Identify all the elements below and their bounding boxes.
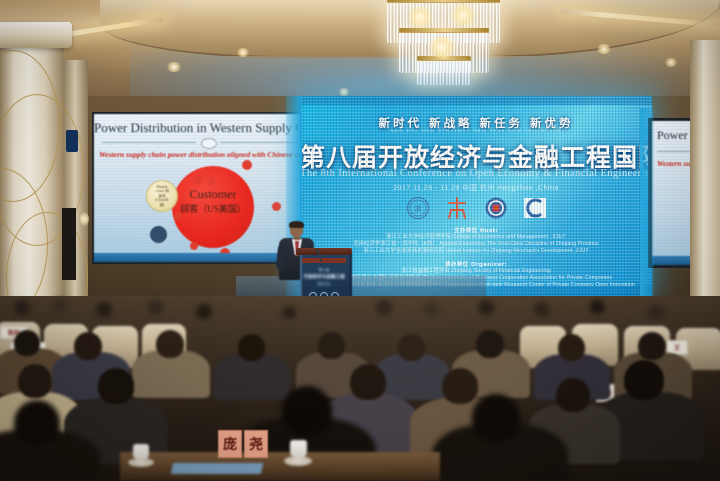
audience-head (424, 302, 439, 316)
audience-head (648, 304, 664, 319)
lectern-text-line-2: 开放经济与金融工程 (300, 274, 348, 280)
node-dot-red-4 (272, 202, 281, 211)
lectern-accent-band (302, 258, 346, 263)
ceiling-spot-4 (664, 58, 678, 67)
left-slide-rule-knot (201, 138, 217, 149)
customer-label: Customer (172, 187, 254, 202)
led-top-band (300, 96, 652, 105)
audience-head (74, 332, 102, 360)
conference-title-en: The 8th International Conference on Open… (300, 168, 652, 179)
node-dot-red-3 (208, 178, 215, 185)
spiral-institute-logo (484, 196, 508, 220)
organizer-heading: 承办单位 Organizer: (300, 260, 652, 268)
audience-head (96, 302, 112, 317)
wall-speaker-stack (62, 208, 76, 280)
audience-head (638, 332, 666, 360)
audience-head (14, 330, 40, 356)
audience-head (98, 368, 134, 404)
speaker-hair (289, 221, 304, 228)
society-logo (445, 196, 469, 220)
audience-head (558, 334, 585, 361)
chandelier-tier-bottom (417, 58, 471, 85)
host-line-3: 浙江工业大学全球浙商发展研究院 Global Institute for Zhe… (300, 248, 652, 255)
node-dot-navy (150, 226, 167, 243)
foreground-head (472, 394, 520, 442)
teacup (133, 444, 149, 461)
audience-head (478, 300, 494, 315)
main-led-backdrop: 新时代 新战略 新任务 新优势 NEW ERA NEW STRATEGY NEW… (300, 96, 652, 296)
wall-blue-sign (66, 130, 78, 152)
audience-head (238, 334, 265, 361)
lectern-text-line-1: 第八届 (300, 268, 348, 273)
audience-head (376, 300, 392, 315)
audience-head (52, 298, 67, 312)
zjut-seal-logo: 浙 (406, 196, 430, 220)
node-dot-red-6 (190, 242, 198, 250)
ceiling-spot-2 (236, 48, 250, 57)
audience-head (590, 300, 605, 314)
organizer-logo-row: 浙 CIBC (300, 196, 652, 220)
node-dot-red-1 (242, 160, 252, 170)
table-document (171, 463, 263, 474)
audience-head (350, 364, 386, 400)
cibc-logo: CIBC (523, 196, 547, 220)
lectern-text-line-3: 国际会议 (300, 281, 348, 286)
column-left-capital (0, 22, 72, 48)
tagline-en: NEW ERA NEW STRATEGY NEW TASK NEW ADVANT… (300, 128, 652, 133)
audience-head (398, 334, 425, 361)
audience-head (624, 360, 664, 400)
chandelier-bulb-glow-2 (447, 4, 479, 26)
svg-text:浙: 浙 (414, 204, 422, 214)
teacup (290, 440, 307, 459)
ceiling-spot-5 (338, 88, 350, 96)
audience-head (476, 330, 504, 358)
foreground-head (282, 386, 332, 436)
audience-head (556, 378, 590, 412)
column-right (690, 40, 720, 340)
customer-label-cn: 顾客（US美国） (172, 202, 254, 215)
lectern-top-surface (296, 248, 352, 255)
host-heading: 主办单位 Host: (300, 226, 652, 234)
led-right-edge-glow (640, 108, 654, 298)
audience-head (18, 364, 52, 398)
wall-sconce-light (80, 212, 89, 226)
audience-head (196, 304, 212, 319)
audience-head (282, 306, 296, 319)
foreground-table (120, 452, 440, 481)
name-card: 尧 (244, 430, 268, 458)
crystal-chandelier (385, 0, 503, 84)
manufacturer-circle: Manufa -cturer 制 造商 (China中 国) (146, 180, 178, 212)
chandelier-band-1 (387, 0, 500, 2)
audience-head (442, 368, 478, 404)
audience-head (148, 300, 163, 314)
foreground-head (14, 400, 60, 446)
ceiling-spot-3 (596, 44, 612, 54)
node-dot-red-5 (174, 212, 182, 220)
conference-hall-photo: Power Distribution in Western Supply Cha… (0, 0, 720, 481)
name-card: 庞 (218, 430, 242, 458)
chandelier-bulb-glow-3 (425, 36, 459, 58)
main-title-wrap: 第八届开放经济与金融工程国际会议 (300, 138, 652, 170)
ceiling-spot-1 (166, 62, 182, 72)
svg-text:CIBC: CIBC (529, 213, 540, 218)
left-slide-rule-a (102, 142, 196, 143)
column-left-main (0, 36, 64, 336)
mfg-line-5: 国) (160, 203, 165, 208)
node-dot-red-2 (194, 176, 202, 184)
audience-head (534, 302, 550, 317)
audience-head (318, 332, 345, 359)
audience-head (14, 300, 30, 315)
audience-head (156, 330, 184, 358)
chandelier-bulb-glow-1 (405, 6, 435, 28)
chandelier-band-2 (399, 28, 489, 32)
host-block: 主办单位 Host: 浙江工业大学经济管理学院 College of Econo… (300, 226, 652, 256)
conference-date-location: 2017.11.26 - 11.28 中国 杭州 Hangzhou ,China (300, 183, 652, 193)
